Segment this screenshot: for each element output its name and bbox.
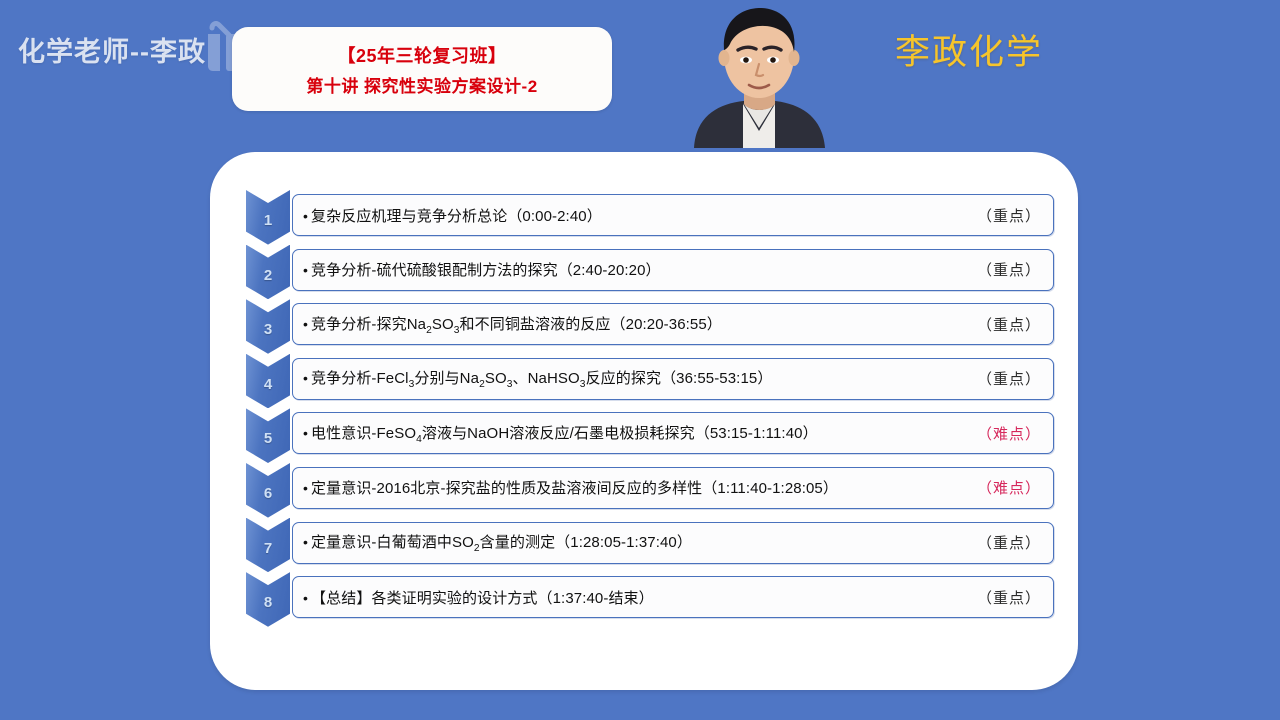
agenda-row[interactable]: 5•电性意识-FeSO4溶液与NaOH溶液反应/石墨电极损耗探究（53:15-1… [246, 408, 1054, 463]
agenda-item-box[interactable]: •电性意识-FeSO4溶液与NaOH溶液反应/石墨电极损耗探究（53:15-1:… [292, 412, 1054, 454]
agenda-item-number: 5 [246, 430, 290, 447]
chevron-marker-icon: 4 [246, 354, 290, 409]
agenda-item-number: 3 [246, 321, 290, 338]
lesson-title-line1: 【25年三轮复习班】 [337, 42, 506, 68]
agenda-item-number: 6 [246, 485, 290, 502]
agenda-item-label: •定量意识-2016北京-探究盐的性质及盐溶液间反应的多样性（1:11:40-1… [303, 477, 963, 498]
agenda-item-box[interactable]: •【总结】各类证明实验的设计方式（1:37:40-结束）（重点） [292, 576, 1054, 618]
chevron-marker-icon: 5 [246, 408, 290, 463]
agenda-item-tag: （难点） [977, 423, 1041, 444]
agenda-row[interactable]: 2•竞争分析-硫代硫酸银配制方法的探究（2:40-20:20）（重点） [246, 245, 1054, 300]
agenda-row[interactable]: 4•竞争分析-FeCl3分别与Na2SO3、NaHSO3反应的探究（36:55-… [246, 354, 1054, 409]
agenda-row[interactable]: 7•定量意识-白葡萄酒中SO2含量的测定（1:28:05-1:37:40）（重点… [246, 518, 1054, 573]
agenda-item-label: •竞争分析-硫代硫酸银配制方法的探究（2:40-20:20） [303, 259, 963, 280]
chevron-marker-icon: 3 [246, 299, 290, 354]
agenda-item-label: •竞争分析-FeCl3分别与Na2SO3、NaHSO3反应的探究（36:55-5… [303, 367, 963, 390]
agenda-item-number: 7 [246, 540, 290, 557]
channel-watermark: 化学老师--李政 [18, 30, 206, 69]
agenda-item-label: •复杂反应机理与竞争分析总论（0:00-2:40） [303, 205, 963, 226]
agenda-item-box[interactable]: •复杂反应机理与竞争分析总论（0:00-2:40）（重点） [292, 194, 1054, 236]
agenda-item-box[interactable]: •定量意识-2016北京-探究盐的性质及盐溶液间反应的多样性（1:11:40-1… [292, 467, 1054, 509]
agenda-item-number: 4 [246, 376, 290, 393]
agenda-item-box[interactable]: •竞争分析-硫代硫酸银配制方法的探究（2:40-20:20）（重点） [292, 249, 1054, 291]
agenda-item-box[interactable]: •竞争分析-FeCl3分别与Na2SO3、NaHSO3反应的探究（36:55-5… [292, 358, 1054, 400]
agenda-row[interactable]: 1•复杂反应机理与竞争分析总论（0:00-2:40）（重点） [246, 190, 1054, 245]
agenda-item-number: 2 [246, 267, 290, 284]
agenda-item-number: 1 [246, 212, 290, 229]
chevron-marker-icon: 1 [246, 190, 290, 245]
agenda-row[interactable]: 8•【总结】各类证明实验的设计方式（1:37:40-结束）（重点） [246, 572, 1054, 627]
agenda-item-box[interactable]: •竞争分析-探究Na2SO3和不同铜盐溶液的反应（20:20-36:55）（重点… [292, 303, 1054, 345]
agenda-item-tag: （重点） [977, 205, 1041, 226]
agenda-item-tag: （重点） [977, 259, 1041, 280]
agenda-item-label: •【总结】各类证明实验的设计方式（1:37:40-结束） [303, 587, 963, 608]
agenda-item-tag: （重点） [977, 587, 1041, 608]
agenda-row[interactable]: 6•定量意识-2016北京-探究盐的性质及盐溶液间反应的多样性（1:11:40-… [246, 463, 1054, 518]
brand-title: 李政化学 [895, 24, 1043, 75]
agenda-item-tag: （难点） [977, 477, 1041, 498]
agenda-row[interactable]: 3•竞争分析-探究Na2SO3和不同铜盐溶液的反应（20:20-36:55）（重… [246, 299, 1054, 354]
agenda-item-box[interactable]: •定量意识-白葡萄酒中SO2含量的测定（1:28:05-1:37:40）（重点） [292, 522, 1054, 564]
chevron-marker-icon: 2 [246, 245, 290, 300]
chevron-marker-icon: 7 [246, 518, 290, 573]
agenda-item-label: •竞争分析-探究Na2SO3和不同铜盐溶液的反应（20:20-36:55） [303, 313, 963, 336]
lesson-title-card: 【25年三轮复习班】 第十讲 探究性实验方案设计-2 [232, 27, 612, 111]
agenda-item-label: •电性意识-FeSO4溶液与NaOH溶液反应/石墨电极损耗探究（53:15-1:… [303, 422, 963, 445]
chevron-marker-icon: 8 [246, 572, 290, 627]
chevron-marker-icon: 6 [246, 463, 290, 518]
agenda-item-label: •定量意识-白葡萄酒中SO2含量的测定（1:28:05-1:37:40） [303, 531, 963, 554]
lesson-title-line2: 第十讲 探究性实验方案设计-2 [306, 72, 537, 97]
agenda-item-number: 8 [246, 594, 290, 611]
agenda-item-tag: （重点） [977, 314, 1041, 335]
teacher-portrait-icon [672, 0, 847, 148]
agenda-item-tag: （重点） [977, 368, 1041, 389]
agenda-list: 1•复杂反应机理与竞争分析总论（0:00-2:40）（重点）2•竞争分析-硫代硫… [246, 190, 1054, 627]
agenda-item-tag: （重点） [977, 532, 1041, 553]
